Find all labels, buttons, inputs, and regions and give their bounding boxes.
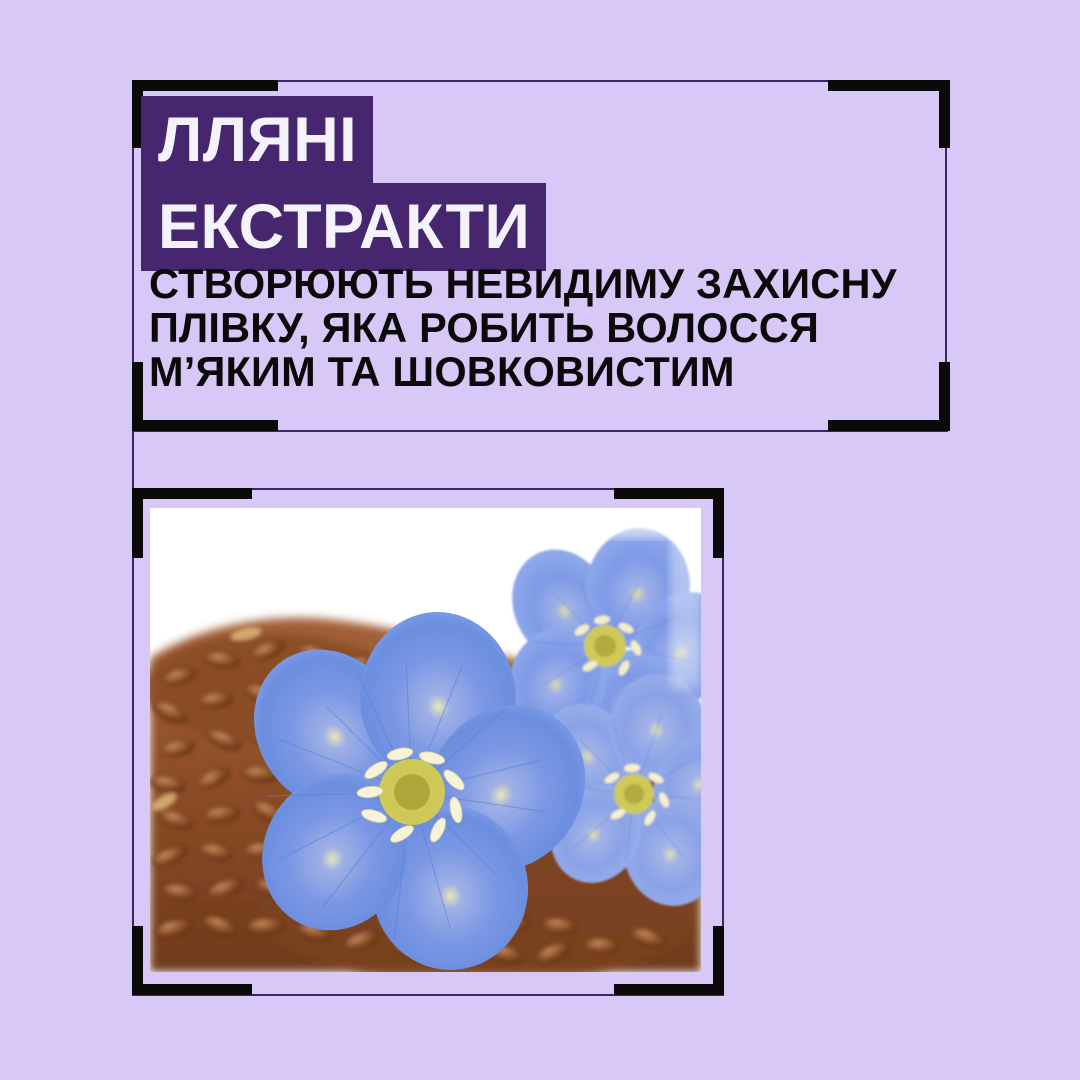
text-frame-corner-bottom-left — [132, 420, 278, 431]
headline-row-2: ЕКСТРАКТИ — [141, 184, 546, 271]
text-frame-corner-bottom-left — [132, 362, 143, 431]
image-frame-corner-bottom-left — [132, 984, 252, 995]
flax-photo-artwork — [150, 508, 701, 972]
flax-photo — [150, 508, 701, 972]
body-copy-line-2: ПЛІВКУ, ЯКА РОБИТЬ ВОЛОССЯ — [149, 306, 909, 350]
image-frame-corner-top-right — [713, 488, 724, 558]
image-frame-corner-bottom-right — [713, 926, 724, 995]
image-frame-right-rule — [722, 488, 724, 996]
text-frame-corner-top-left — [132, 80, 278, 91]
text-frame-corner-bottom-right — [828, 420, 950, 431]
headline: ЛЛЯНІ ЕКСТРАКТИ — [141, 96, 546, 271]
headline-line-1: ЛЛЯНІ — [141, 96, 373, 184]
poster-canvas: ЛЛЯНІ ЕКСТРАКТИ СТВОРЮЮТЬ НЕВИДИМУ ЗАХИС… — [0, 0, 1080, 1080]
text-frame-corner-top-right — [828, 80, 950, 91]
headline-row-1: ЛЛЯНІ — [141, 96, 546, 184]
image-frame-corner-bottom-right — [614, 984, 724, 995]
text-frame-corner-top-right — [939, 80, 950, 148]
body-copy-line-1: СТВОРЮЮТЬ НЕВИДИМУ ЗАХИСНУ — [149, 262, 909, 306]
image-frame-corner-top-left — [132, 488, 252, 499]
body-copy: СТВОРЮЮТЬ НЕВИДИМУ ЗАХИСНУ ПЛІВКУ, ЯКА Р… — [149, 262, 909, 394]
image-frame-corner-bottom-left — [132, 926, 143, 995]
body-copy-line-3: М’ЯКИМ ТА ШОВКОВИСТИМ — [149, 350, 909, 394]
image-frame-corner-top-right — [614, 488, 724, 499]
image-frame-corner-top-left — [132, 488, 143, 558]
headline-line-2: ЕКСТРАКТИ — [141, 183, 546, 271]
text-frame-corner-bottom-right — [939, 362, 950, 431]
